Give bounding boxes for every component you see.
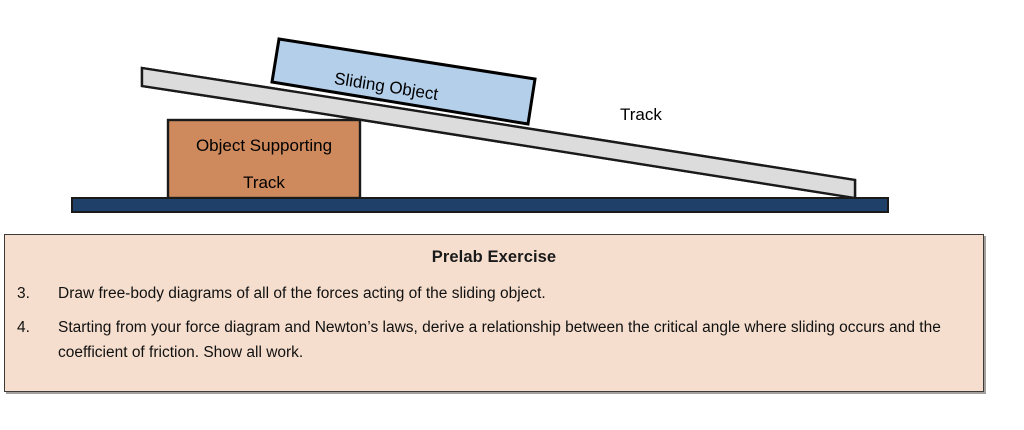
- object-supporting-track-label: Object Supporting Track: [172, 135, 356, 195]
- list-item: 4. Starting from your force diagram and …: [5, 315, 983, 365]
- inclined-plane-diagram: Sliding Object Track Object Supporting T…: [0, 0, 1024, 228]
- list-item-number: 3.: [17, 281, 51, 306]
- list-item-text: Starting from your force diagram and New…: [58, 319, 941, 361]
- support-label-line-2: Track: [172, 172, 356, 195]
- prelab-exercise-title: Prelab Exercise: [5, 248, 983, 267]
- prelab-exercise-list: 3. Draw free-body diagrams of all of the…: [5, 281, 983, 365]
- track-label: Track: [620, 104, 662, 127]
- list-item-number: 4.: [17, 315, 51, 340]
- list-item-text: Draw free-body diagrams of all of the fo…: [58, 285, 546, 302]
- page-root: Sliding Object Track Object Supporting T…: [0, 0, 1024, 430]
- base-support-bar: [72, 198, 888, 212]
- diagram-canvas: [0, 0, 1024, 228]
- prelab-exercise-box: Prelab Exercise 3. Draw free-body diagra…: [4, 234, 984, 392]
- support-label-line-1: Object Supporting: [196, 136, 332, 155]
- list-item: 3. Draw free-body diagrams of all of the…: [5, 281, 983, 306]
